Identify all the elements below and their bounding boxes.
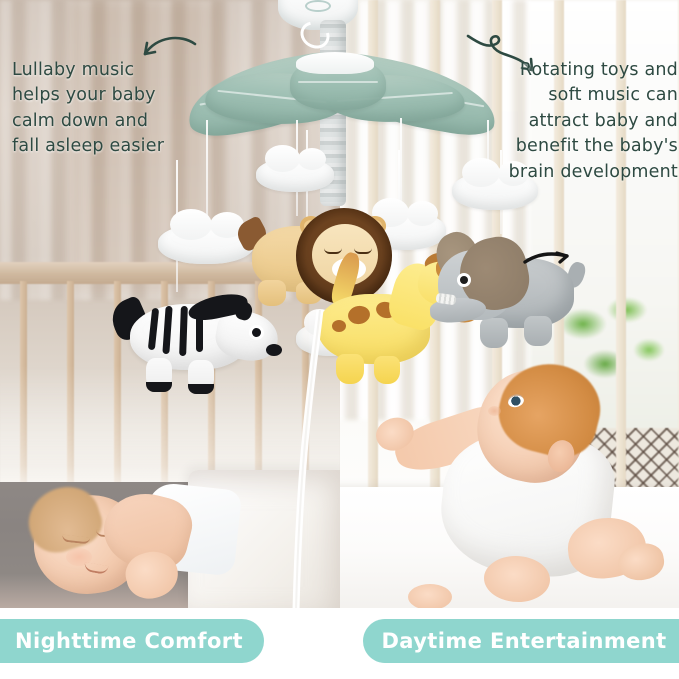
badge-row: Nighttime Comfort Daytime Entertainment [0, 608, 679, 679]
product-image-stage: Lullaby music helps your baby calm down … [0, 0, 679, 679]
elephant-pointer-arrow-icon [523, 248, 575, 270]
elephant-eye [460, 276, 468, 284]
caption-right-text: Rotating toys and soft music can attract… [440, 58, 678, 185]
badge-nighttime-comfort[interactable]: Nighttime Comfort [0, 619, 264, 663]
lion-leg-front [258, 280, 286, 306]
zebra-nose [266, 344, 282, 356]
canopy-cap [296, 52, 374, 74]
zebra-eye [252, 328, 261, 337]
photo-area: Lullaby music helps your baby calm down … [0, 0, 679, 608]
giraffe-leg-1 [336, 354, 364, 384]
motor-indicator-icon [305, 0, 331, 12]
cloud-plush-2 [256, 158, 334, 192]
sleeping-baby [18, 478, 248, 608]
giraffe-spot-3 [332, 320, 346, 332]
elephant-leg-back [524, 316, 552, 346]
elephant-leg-front [480, 318, 508, 348]
zebra-hoof-front [146, 382, 172, 392]
awake-baby-knee [484, 556, 550, 602]
awake-baby-support-hand [408, 584, 452, 608]
zebra-hoof-back [188, 384, 214, 394]
badge-daytime-entertainment[interactable]: Daytime Entertainment [363, 619, 679, 663]
caption-left-text: Lullaby music helps your baby calm down … [12, 58, 242, 160]
badge-daytime-label: Daytime Entertainment [381, 629, 666, 653]
badge-nighttime-label: Nighttime Comfort [15, 629, 243, 653]
giraffe-leg-2 [374, 356, 400, 384]
